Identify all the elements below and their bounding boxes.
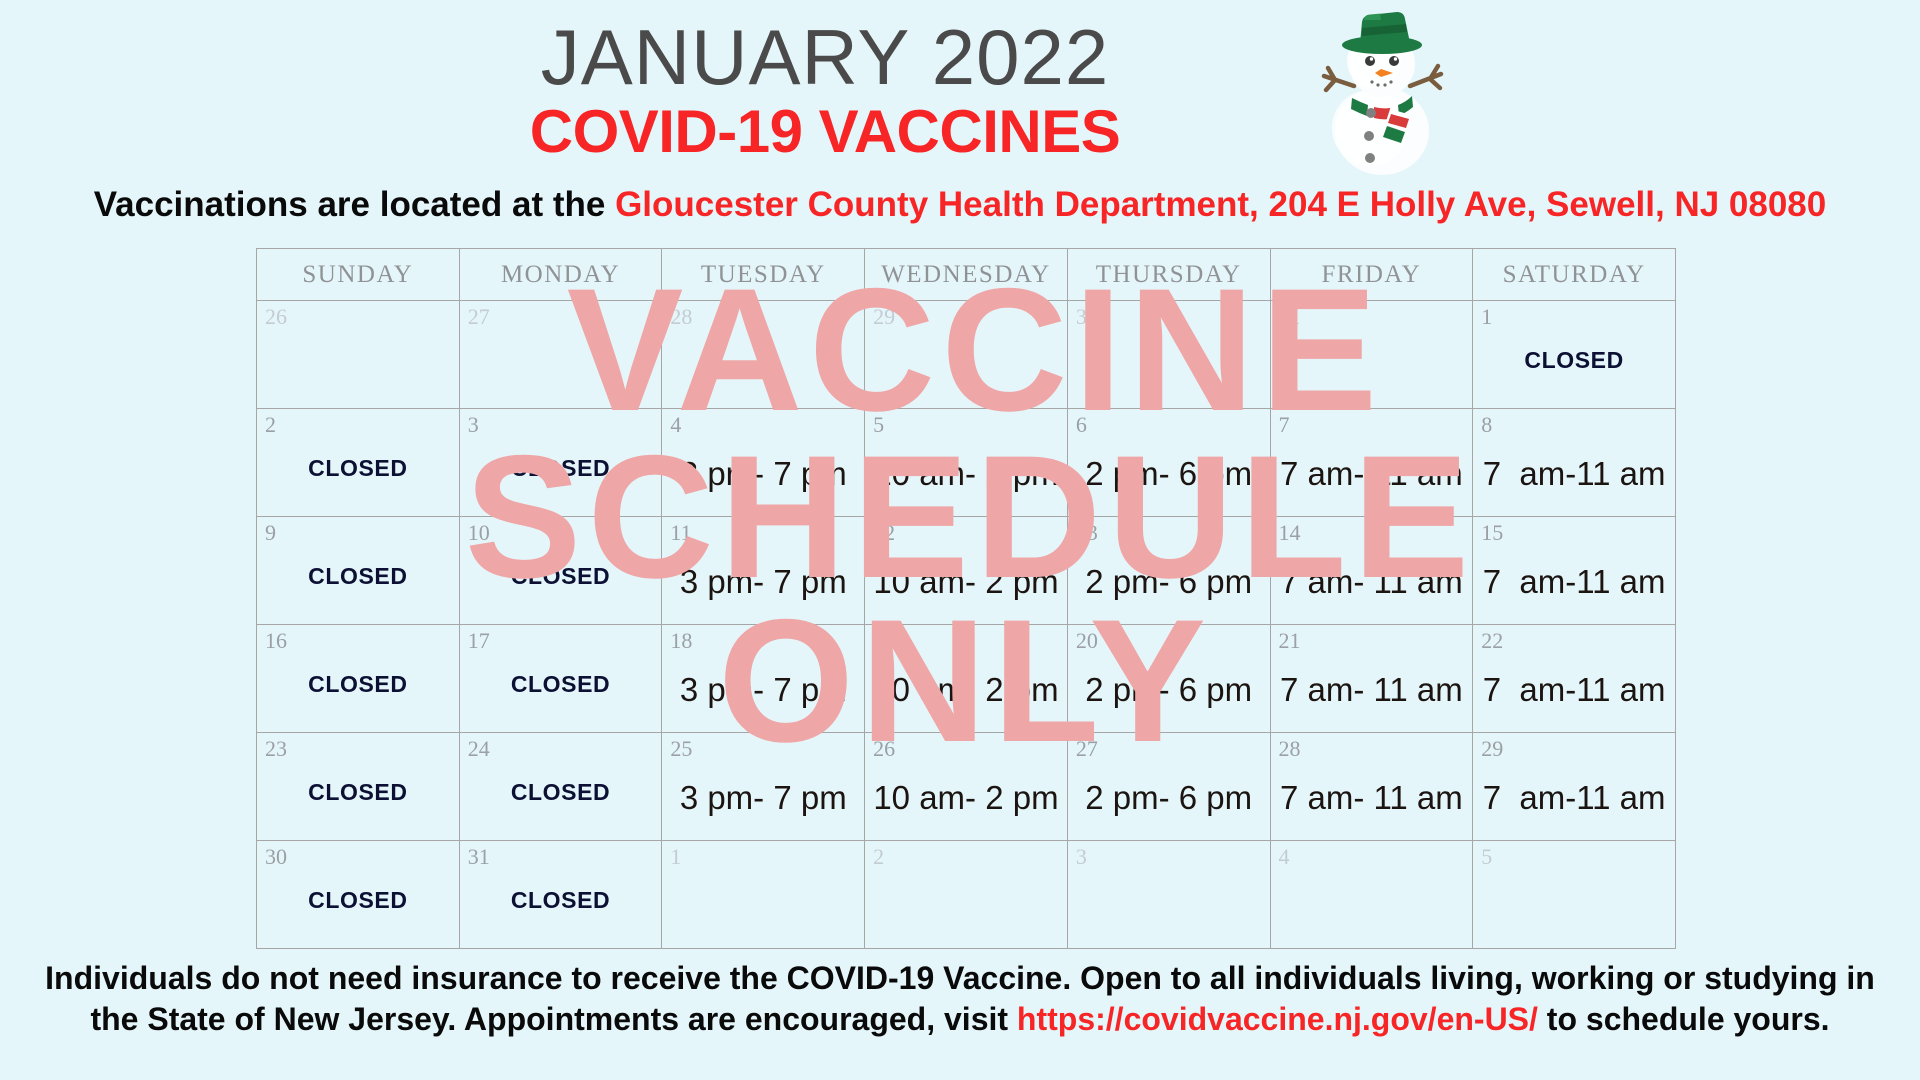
- day-number: 28: [670, 305, 692, 329]
- closed-label: CLOSED: [460, 673, 662, 696]
- day-number: 29: [873, 305, 895, 329]
- location-line: Vaccinations are located at the Gloucest…: [0, 185, 1920, 225]
- day-number: 19: [873, 629, 895, 653]
- day-header-sunday: SUNDAY: [257, 249, 460, 301]
- closed-label: CLOSED: [1473, 349, 1675, 372]
- closed-label: CLOSED: [257, 565, 459, 588]
- day-header-thursday: THURSDAY: [1067, 249, 1270, 301]
- calendar-day-cell[interactable]: 29: [865, 301, 1068, 409]
- calendar-week-row: 23CLOSED24CLOSED253 pm- 7 pm2610 am- 2 p…: [257, 733, 1676, 841]
- calendar-header-row: SUNDAY MONDAY TUESDAY WEDNESDAY THURSDAY…: [257, 249, 1676, 301]
- day-number: 21: [1279, 629, 1301, 653]
- calendar-day-cell[interactable]: 2610 am- 2 pm: [865, 733, 1068, 841]
- calendar-day-cell[interactable]: 1CLOSED: [1473, 301, 1676, 409]
- calendar-day-cell[interactable]: 253 pm- 7 pm: [662, 733, 865, 841]
- calendar-week-row: 2627282930311CLOSED: [257, 301, 1676, 409]
- calendar-day-cell[interactable]: 24CLOSED: [459, 733, 662, 841]
- calendar-day-cell[interactable]: 132 pm- 6 pm: [1067, 517, 1270, 625]
- day-number: 2: [873, 845, 884, 869]
- day-number: 28: [1279, 737, 1301, 761]
- day-number: 16: [265, 629, 287, 653]
- day-number: 4: [670, 413, 681, 437]
- day-number: 20: [1076, 629, 1098, 653]
- day-number: 18: [670, 629, 692, 653]
- calendar-day-cell[interactable]: 2CLOSED: [257, 409, 460, 517]
- hours-label: 7 am- 11 am: [1271, 565, 1473, 598]
- hours-label: 3 pm- 7 pm: [662, 673, 864, 706]
- calendar-day-cell[interactable]: 23CLOSED: [257, 733, 460, 841]
- day-number: 26: [873, 737, 895, 761]
- hours-label: 10 am- 2 pm: [865, 781, 1067, 814]
- calendar-day-cell[interactable]: 43 pm- 7 pm: [662, 409, 865, 517]
- calendar-day-cell[interactable]: 3CLOSED: [459, 409, 662, 517]
- calendar-day-cell[interactable]: 87 am-11 am: [1473, 409, 1676, 517]
- day-number: 31: [1279, 305, 1301, 329]
- hours-label: 7 am-11 am: [1473, 781, 1675, 814]
- day-number: 8: [1481, 413, 1492, 437]
- calendar-day-cell[interactable]: 17CLOSED: [459, 625, 662, 733]
- calendar-week-row: 30CLOSED31CLOSED12345: [257, 841, 1676, 949]
- day-number: 1: [670, 845, 681, 869]
- poster-subtitle: COVID-19 VACCINES: [0, 102, 1920, 162]
- hours-label: 7 am-11 am: [1473, 673, 1675, 706]
- calendar-day-cell[interactable]: 2: [865, 841, 1068, 949]
- day-number: 14: [1279, 521, 1301, 545]
- day-number: 4: [1279, 845, 1290, 869]
- closed-label: CLOSED: [460, 889, 662, 912]
- footer-line-2: the State of New Jersey. Appointments ar…: [0, 999, 1920, 1040]
- calendar-day-cell[interactable]: 77 am- 11 am: [1270, 409, 1473, 517]
- footer-line-1: Individuals do not need insurance to rec…: [0, 958, 1920, 999]
- calendar-day-cell[interactable]: 27: [459, 301, 662, 409]
- day-number: 22: [1481, 629, 1503, 653]
- footer-text-before: the State of New Jersey. Appointments ar…: [90, 1001, 1016, 1037]
- calendar-day-cell[interactable]: 4: [1270, 841, 1473, 949]
- day-number: 24: [468, 737, 490, 761]
- day-number: 31: [468, 845, 490, 869]
- calendar-day-cell[interactable]: 1210 am- 2 pm: [865, 517, 1068, 625]
- day-number: 26: [265, 305, 287, 329]
- calendar-day-cell[interactable]: 62 pm- 6 pm: [1067, 409, 1270, 517]
- footer-text-after: to schedule yours.: [1538, 1001, 1830, 1037]
- poster-header: JANUARY 2022 COVID-19 VACCINES Vaccinati…: [0, 0, 1920, 205]
- day-number: 11: [670, 521, 691, 545]
- hours-label: 7 am-11 am: [1473, 565, 1675, 598]
- calendar-container: SUNDAY MONDAY TUESDAY WEDNESDAY THURSDAY…: [256, 248, 1676, 951]
- calendar-day-cell[interactable]: 31: [1270, 301, 1473, 409]
- calendar-day-cell[interactable]: 30CLOSED: [257, 841, 460, 949]
- closed-label: CLOSED: [257, 781, 459, 804]
- calendar-day-cell[interactable]: 217 am- 11 am: [1270, 625, 1473, 733]
- calendar-day-cell[interactable]: 10CLOSED: [459, 517, 662, 625]
- poster-footer: Individuals do not need insurance to rec…: [0, 958, 1920, 1040]
- vaccine-scheduling-link[interactable]: https://covidvaccine.nj.gov/en-US/: [1017, 1001, 1538, 1037]
- closed-label: CLOSED: [257, 457, 459, 480]
- calendar-day-cell[interactable]: 157 am-11 am: [1473, 517, 1676, 625]
- calendar-day-cell[interactable]: 26: [257, 301, 460, 409]
- calendar-day-cell[interactable]: 1: [662, 841, 865, 949]
- closed-label: CLOSED: [460, 565, 662, 588]
- calendar-day-cell[interactable]: 28: [662, 301, 865, 409]
- calendar-day-cell[interactable]: 183 pm- 7 pm: [662, 625, 865, 733]
- day-number: 17: [468, 629, 490, 653]
- day-number: 9: [265, 521, 276, 545]
- location-address: Gloucester County Health Department, 204…: [615, 185, 1826, 224]
- calendar-day-cell[interactable]: 113 pm- 7 pm: [662, 517, 865, 625]
- calendar-day-cell[interactable]: 147 am- 11 am: [1270, 517, 1473, 625]
- calendar-week-row: 2CLOSED3CLOSED43 pm- 7 pm510 am- 2 pm62 …: [257, 409, 1676, 517]
- calendar-day-cell[interactable]: 202 pm- 6 pm: [1067, 625, 1270, 733]
- hours-label: 2 pm- 6 pm: [1068, 673, 1270, 706]
- hours-label: 7 am- 11 am: [1271, 673, 1473, 706]
- day-number: 3: [1076, 845, 1087, 869]
- hours-label: 3 pm- 7 pm: [662, 457, 864, 490]
- calendar-day-cell[interactable]: 9CLOSED: [257, 517, 460, 625]
- calendar-day-cell[interactable]: 1910 am- 2 pm: [865, 625, 1068, 733]
- calendar-table: SUNDAY MONDAY TUESDAY WEDNESDAY THURSDAY…: [256, 248, 1676, 949]
- hours-label: 3 pm- 7 pm: [662, 781, 864, 814]
- day-number: 7: [1279, 413, 1290, 437]
- day-number: 27: [1076, 737, 1098, 761]
- day-header-saturday: SATURDAY: [1473, 249, 1676, 301]
- day-number: 3: [468, 413, 479, 437]
- calendar-day-cell[interactable]: 287 am- 11 am: [1270, 733, 1473, 841]
- calendar-day-cell[interactable]: 5: [1473, 841, 1676, 949]
- calendar-week-row: 16CLOSED17CLOSED183 pm- 7 pm1910 am- 2 p…: [257, 625, 1676, 733]
- closed-label: CLOSED: [460, 781, 662, 804]
- day-number: 10: [468, 521, 490, 545]
- hours-label: 2 pm- 6 pm: [1068, 781, 1270, 814]
- closed-label: CLOSED: [257, 673, 459, 696]
- calendar-day-cell[interactable]: 16CLOSED: [257, 625, 460, 733]
- day-number: 1: [1481, 305, 1492, 329]
- day-number: 30: [1076, 305, 1098, 329]
- hours-label: 7 am-11 am: [1473, 457, 1675, 490]
- hours-label: 10 am- 2 pm: [865, 673, 1067, 706]
- hours-label: 3 pm- 7 pm: [662, 565, 864, 598]
- hours-label: 2 pm- 6 pm: [1068, 565, 1270, 598]
- calendar-day-cell[interactable]: 272 pm- 6 pm: [1067, 733, 1270, 841]
- location-prefix: Vaccinations are located at the: [94, 185, 615, 224]
- hours-label: 10 am- 2 pm: [865, 565, 1067, 598]
- day-number: 30: [265, 845, 287, 869]
- calendar-week-row: 9CLOSED10CLOSED113 pm- 7 pm1210 am- 2 pm…: [257, 517, 1676, 625]
- day-header-monday: MONDAY: [459, 249, 662, 301]
- hours-label: 2 pm- 6 pm: [1068, 457, 1270, 490]
- calendar-day-cell[interactable]: 3: [1067, 841, 1270, 949]
- calendar-day-cell[interactable]: 227 am-11 am: [1473, 625, 1676, 733]
- day-number: 23: [265, 737, 287, 761]
- closed-label: CLOSED: [257, 889, 459, 912]
- calendar-body: 2627282930311CLOSED2CLOSED3CLOSED43 pm- …: [257, 301, 1676, 949]
- snowman-icon: [1302, 6, 1462, 186]
- day-number: 15: [1481, 521, 1503, 545]
- day-number: 25: [670, 737, 692, 761]
- day-number: 12: [873, 521, 895, 545]
- calendar-day-cell[interactable]: 30: [1067, 301, 1270, 409]
- day-number: 13: [1076, 521, 1098, 545]
- day-header-friday: FRIDAY: [1270, 249, 1473, 301]
- day-number: 27: [468, 305, 490, 329]
- day-number: 29: [1481, 737, 1503, 761]
- calendar-day-cell[interactable]: 297 am-11 am: [1473, 733, 1676, 841]
- day-header-wednesday: WEDNESDAY: [865, 249, 1068, 301]
- day-number: 6: [1076, 413, 1087, 437]
- vaccine-schedule-poster: JANUARY 2022 COVID-19 VACCINES Vaccinati…: [0, 0, 1920, 1080]
- calendar-day-cell[interactable]: 510 am- 2 pm: [865, 409, 1068, 517]
- hours-label: 7 am- 11 am: [1271, 457, 1473, 490]
- day-number: 5: [1481, 845, 1492, 869]
- day-number: 2: [265, 413, 276, 437]
- hours-label: 7 am- 11 am: [1271, 781, 1473, 814]
- calendar-day-cell[interactable]: 31CLOSED: [459, 841, 662, 949]
- hours-label: 10 am- 2 pm: [865, 457, 1067, 490]
- closed-label: CLOSED: [460, 457, 662, 480]
- day-number: 5: [873, 413, 884, 437]
- day-header-tuesday: TUESDAY: [662, 249, 865, 301]
- month-title: JANUARY 2022: [0, 18, 1920, 96]
